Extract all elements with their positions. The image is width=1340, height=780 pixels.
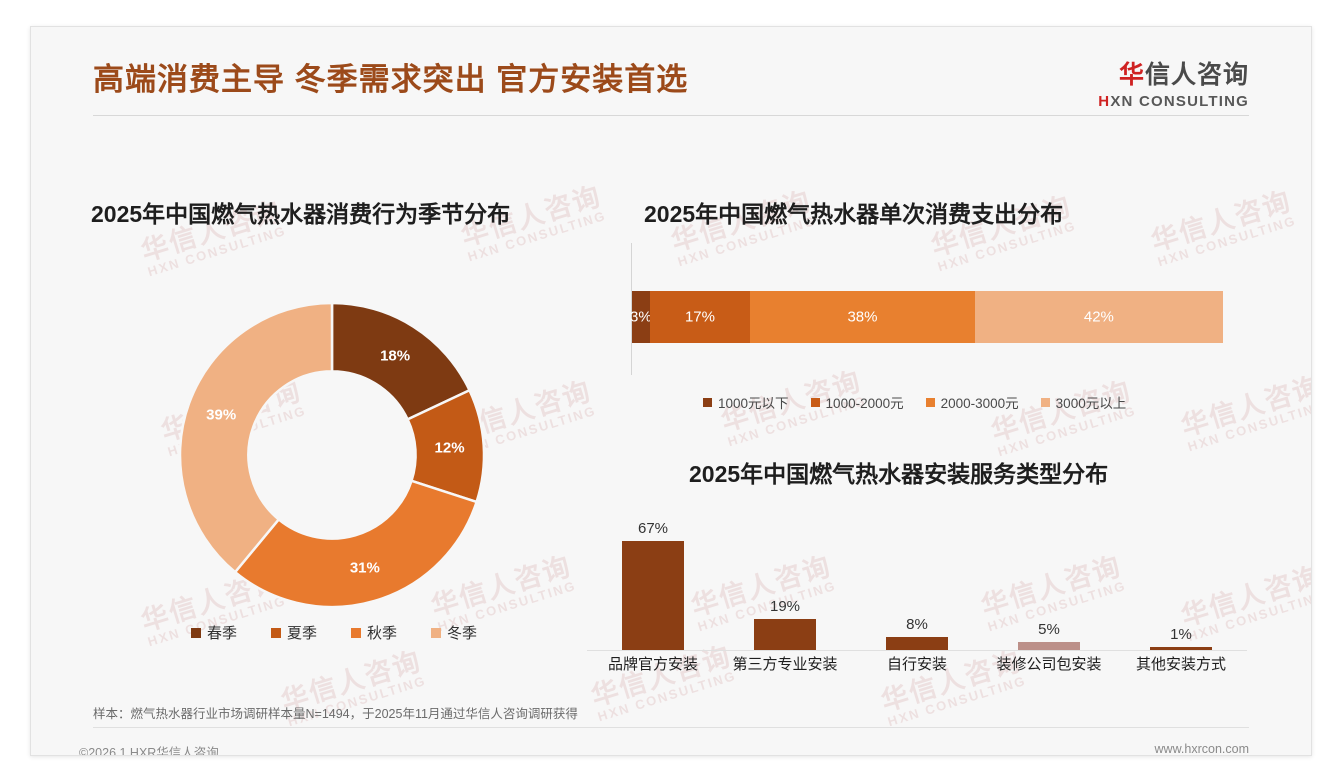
page-title: 高端消费主导 冬季需求突出 官方安装首选 [93, 54, 688, 99]
logo-en-highlight: H [1098, 93, 1110, 110]
legend-item[interactable]: 秋季 [351, 622, 397, 643]
legend-item[interactable]: 夏季 [271, 622, 317, 643]
legend-label: 秋季 [367, 622, 397, 643]
legend-label: 春季 [207, 622, 237, 643]
bar-chart-columns: 67%19%8%5%1% [587, 507, 1247, 650]
bar-value-label: 19% [770, 598, 800, 615]
bar-rect[interactable] [886, 637, 948, 650]
stacked-bar-segment[interactable]: 17% [650, 291, 750, 343]
legend-swatch-icon [191, 628, 201, 638]
bar-value-label: 8% [906, 616, 928, 633]
stacked-chart-title: 2025年中国燃气热水器单次消费支出分布 [644, 195, 1063, 229]
legend-label: 夏季 [287, 622, 317, 643]
legend-label: 1000-2000元 [826, 392, 904, 412]
legend-label: 2000-3000元 [941, 392, 1019, 412]
donut-chart-title: 2025年中国燃气热水器消费行为季节分布 [91, 195, 510, 229]
logo-cn-rest: 信人咨询 [1145, 61, 1249, 89]
logo-en-rest: XN CONSULTING [1110, 93, 1249, 110]
legend-swatch-icon [271, 628, 281, 638]
donut-chart: 18%12%31%39% [176, 299, 488, 611]
header-divider [93, 115, 1249, 116]
donut-segment[interactable] [180, 303, 332, 572]
donut-chart-legend: 春季夏季秋季冬季 [191, 622, 477, 643]
stacked-segment-value: 42% [1084, 309, 1114, 326]
donut-segment-value: 18% [380, 347, 410, 364]
bar-value-label: 67% [638, 520, 668, 537]
slide-header: 高端消费主导 冬季需求突出 官方安装首选 华信人咨询 HXN CONSULTIN… [31, 27, 1311, 119]
donut-segment-value: 31% [350, 560, 380, 577]
stacked-segment-value: 38% [847, 309, 877, 326]
legend-label: 冬季 [447, 622, 477, 643]
legend-swatch-icon [431, 628, 441, 638]
stacked-segment-value: 3% [630, 309, 652, 326]
bar-value-label: 5% [1038, 621, 1060, 638]
legend-label: 1000元以下 [718, 392, 789, 412]
footer-website[interactable]: www.hxrcon.com [1155, 742, 1249, 756]
bar-rect[interactable] [622, 541, 684, 650]
logo-chinese-text: 华信人咨询 [1098, 55, 1249, 91]
bar-chart-category-labels: 品牌官方安装第三方专业安装自行安装装修公司包安装其他安装方式 [587, 653, 1247, 677]
stacked-bar-segment[interactable]: 3% [632, 291, 650, 343]
watermark-text: 华信人咨询HXN CONSULTING [1178, 372, 1312, 455]
stacked-bar-segment[interactable]: 38% [750, 291, 975, 343]
bar-column[interactable]: 5% [983, 507, 1115, 650]
vertical-bar-chart: 67%19%8%5%1% 品牌官方安装第三方专业安装自行安装装修公司包安装其他安… [587, 507, 1247, 677]
stacked-bar-chart: 单次花费 3%17%38%42% [631, 243, 1243, 375]
footer-copyright: ©2026.1 HXR华信人咨询 [79, 742, 219, 756]
watermark-text: 华信人咨询HXN CONSULTING [988, 377, 1139, 460]
donut-segment-value: 39% [206, 407, 236, 424]
legend-swatch-icon [811, 398, 820, 407]
donut-segment-value: 12% [435, 439, 465, 456]
footer-divider [93, 727, 1249, 728]
stacked-chart-legend: 1000元以下1000-2000元2000-3000元3000元以上 [703, 392, 1126, 412]
legend-swatch-icon [351, 628, 361, 638]
bar-rect[interactable] [1150, 647, 1212, 650]
bar-category-label: 自行安装 [851, 653, 983, 677]
legend-swatch-icon [703, 398, 712, 407]
slide-canvas: 华信人咨询HXN CONSULTING华信人咨询HXN CONSULTING华信… [30, 26, 1312, 756]
legend-item[interactable]: 1000元以下 [703, 392, 789, 412]
legend-item[interactable]: 3000元以上 [1041, 392, 1127, 412]
source-footnote: 样本：燃气热水器行业市场调研样本量N=1494，于2025年11月通过华信人咨询… [93, 703, 578, 722]
legend-swatch-icon [926, 398, 935, 407]
bar-rect[interactable] [754, 619, 816, 650]
stacked-segment-value: 17% [685, 309, 715, 326]
legend-item[interactable]: 春季 [191, 622, 237, 643]
legend-item[interactable]: 冬季 [431, 622, 477, 643]
bar-chart-title: 2025年中国燃气热水器安装服务类型分布 [689, 455, 1108, 489]
bar-category-label: 品牌官方安装 [587, 653, 719, 677]
legend-swatch-icon [1041, 398, 1050, 407]
bar-column[interactable]: 8% [851, 507, 983, 650]
legend-item[interactable]: 1000-2000元 [811, 392, 904, 412]
bar-column[interactable]: 19% [719, 507, 851, 650]
bar-rect[interactable] [1018, 642, 1080, 650]
bar-chart-baseline [587, 650, 1247, 651]
legend-label: 3000元以上 [1056, 392, 1127, 412]
bar-category-label: 其他安装方式 [1115, 653, 1247, 677]
bar-category-label: 装修公司包安装 [983, 653, 1115, 677]
bar-column[interactable]: 1% [1115, 507, 1247, 650]
logo-english-text: HXN CONSULTING [1098, 93, 1249, 110]
legend-item[interactable]: 2000-3000元 [926, 392, 1019, 412]
bar-value-label: 1% [1170, 626, 1192, 643]
logo-cn-highlight: 华 [1119, 61, 1145, 89]
bar-column[interactable]: 67% [587, 507, 719, 650]
stacked-bar-segment[interactable]: 42% [975, 291, 1223, 343]
donut-segment[interactable] [235, 481, 476, 607]
bar-category-label: 第三方专业安装 [719, 653, 851, 677]
brand-logo: 华信人咨询 HXN CONSULTING [1098, 55, 1249, 110]
stacked-bar-row: 3%17%38%42% [632, 291, 1223, 343]
